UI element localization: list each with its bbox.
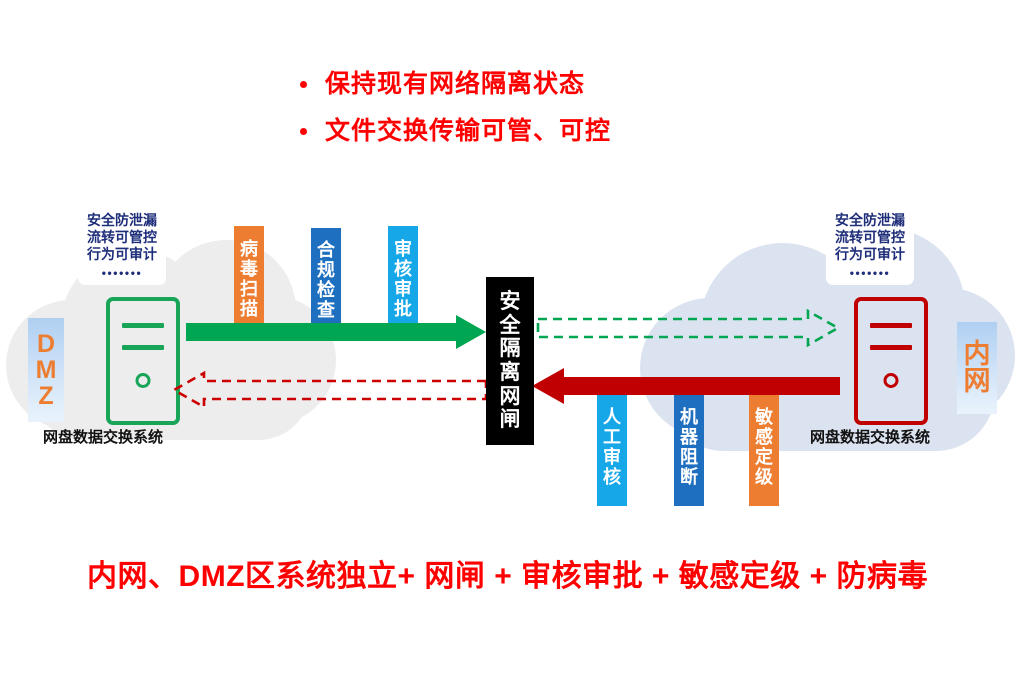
bar-char: 合 — [317, 240, 335, 260]
control-bar-manual-review: 人 工 审 核 — [597, 388, 627, 506]
control-bar-sensitivity-grading: 敏 感 定 级 — [749, 388, 779, 506]
bar-char: 核 — [603, 467, 621, 487]
bar-char: 规 — [317, 260, 335, 280]
arrow-dmz-to-gateway — [186, 315, 486, 349]
bar-char: 机 — [680, 407, 698, 427]
gateway-char: 隔 — [500, 337, 521, 361]
bar-char: 检 — [317, 280, 335, 300]
bar-char: 审 — [603, 447, 621, 467]
zone-label-dmz-char: Z — [38, 383, 53, 409]
bar-char: 毒 — [240, 259, 258, 279]
zone-label-dmz-char: D — [37, 331, 55, 357]
arrow-intranet-to-gateway — [532, 368, 840, 404]
zone-label-dmz: D M Z — [28, 318, 64, 422]
callout-dmz-line: 安全防泄漏 — [87, 212, 157, 229]
callout-intranet: 安全防泄漏 流转可管控 行为可审计 ••••••• — [826, 206, 914, 285]
bar-char: 敏 — [755, 407, 773, 427]
callout-intranet-line: 安全防泄漏 — [835, 212, 905, 229]
callout-dmz-line: 流转可管控 — [87, 229, 157, 246]
gateway-char: 全 — [500, 314, 521, 338]
callout-intranet-line: 行为可审计 — [835, 246, 905, 263]
zone-label-intranet-char: 内 — [964, 341, 991, 368]
bullet-list: 保持现有网络隔离状态 文件交换传输可管、可控 — [300, 72, 900, 166]
bar-char: 核 — [394, 259, 412, 279]
bar-char: 人 — [603, 407, 621, 427]
gateway-char: 安 — [500, 290, 521, 314]
bar-char: 审 — [394, 239, 412, 259]
bullet-dot-icon — [300, 81, 307, 88]
zone-label-intranet-char: 网 — [964, 368, 991, 395]
bullet-item: 保持现有网络隔离状态 — [300, 72, 900, 97]
security-gateway-box: 安 全 隔 离 网 闸 — [486, 277, 534, 445]
arrow-gateway-to-intranet — [538, 311, 838, 345]
bar-char: 病 — [240, 239, 258, 259]
callout-intranet-line: 流转可管控 — [835, 229, 905, 246]
caption-intranet-system: 网盘数据交换系统 — [810, 426, 930, 447]
bullet-text: 文件交换传输可管、可控 — [325, 119, 611, 144]
server-icon-dmz — [106, 297, 180, 425]
summary-formula: 内网、DMZ区系统独立+ 网闸 + 审核审批 + 敏感定级 + 防病毒 — [0, 551, 1015, 595]
caption-dmz-system: 网盘数据交换系统 — [43, 426, 163, 447]
bullet-dot-icon — [300, 128, 307, 135]
callout-dmz: 安全防泄漏 流转可管控 行为可审计 ••••••• — [78, 206, 166, 285]
callout-dmz-line: 行为可审计 — [87, 246, 157, 263]
server-icon-intranet — [854, 297, 928, 425]
callout-intranet-dots: ••••••• — [835, 266, 905, 281]
arrow-gateway-to-dmz — [174, 372, 486, 408]
gateway-char: 网 — [500, 385, 521, 409]
bar-char: 审 — [394, 279, 412, 299]
bar-char: 定 — [755, 447, 773, 467]
callout-dmz-dots: ••••••• — [87, 266, 157, 281]
bar-char: 器 — [680, 427, 698, 447]
bar-char: 扫 — [240, 279, 258, 299]
bullet-item: 文件交换传输可管、可控 — [300, 119, 900, 144]
diagram-canvas: 保持现有网络隔离状态 文件交换传输可管、可控 D M Z 内 网 安全防泄漏 流… — [0, 0, 1015, 675]
bar-char: 断 — [680, 467, 698, 487]
bar-char: 级 — [755, 467, 773, 487]
zone-label-intranet: 内 网 — [957, 322, 997, 414]
bar-char: 工 — [603, 427, 621, 447]
bullet-text: 保持现有网络隔离状态 — [325, 72, 585, 97]
gateway-char: 闸 — [500, 408, 521, 432]
bar-char: 阻 — [680, 447, 698, 467]
zone-label-dmz-char: M — [36, 357, 57, 383]
gateway-char: 离 — [500, 361, 521, 385]
bar-char: 感 — [755, 427, 773, 447]
control-bar-machine-block: 机 器 阻 断 — [674, 388, 704, 506]
